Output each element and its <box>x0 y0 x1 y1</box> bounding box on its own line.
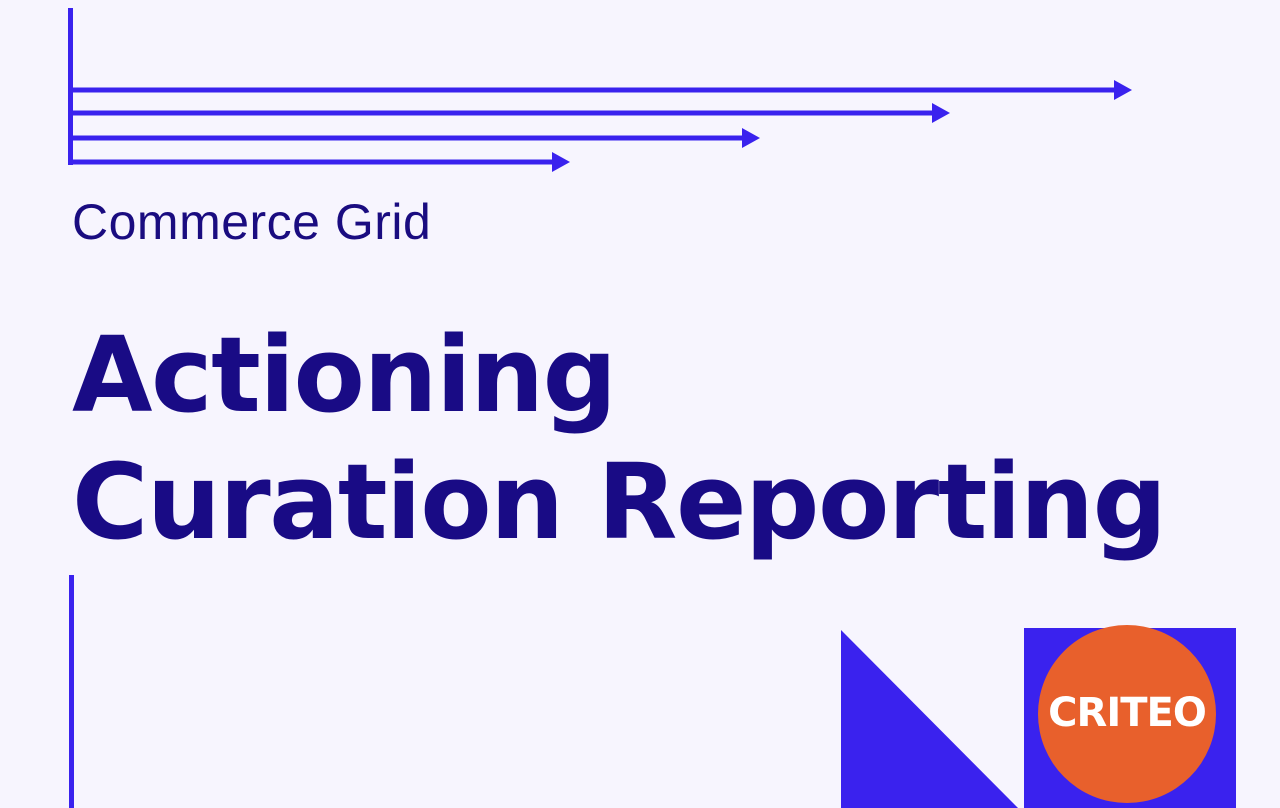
slide-canvas: Commerce Grid Actioning Curation Reporti… <box>0 0 1280 808</box>
left-accent-bar <box>69 575 74 808</box>
slide-eyebrow: Commerce Grid <box>72 192 431 252</box>
arrow-2 <box>70 103 950 123</box>
slide-title: Actioning Curation Reporting <box>72 312 1172 566</box>
title-line-2: Curation Reporting <box>72 439 1172 566</box>
title-line-1: Actioning <box>72 312 1172 439</box>
top-arrows-decoration <box>0 0 1280 200</box>
arrow-4 <box>70 152 570 172</box>
blue-triangle <box>841 630 1018 808</box>
brand-logo: CRITEO <box>1038 625 1216 803</box>
arrow-stem <box>68 8 73 165</box>
arrow-1 <box>70 80 1132 100</box>
arrow-3 <box>70 128 760 148</box>
criteo-wordmark-text: CRITEO <box>1048 691 1206 736</box>
criteo-wordmark-icon: CRITEO <box>1047 691 1207 737</box>
